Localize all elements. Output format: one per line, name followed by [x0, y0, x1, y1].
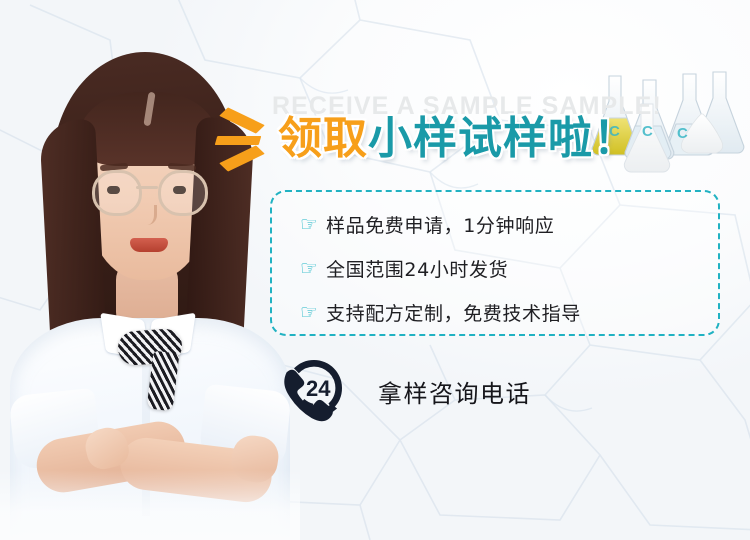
- pointing-hand-icon: ☞: [300, 258, 326, 278]
- headline-part-one: 领取: [278, 113, 368, 164]
- pointing-hand-icon: ☞: [300, 214, 326, 234]
- list-item: ☞ 样品免费申请，1分钟响应: [300, 202, 720, 246]
- mouth: [130, 238, 168, 252]
- page-title: 领取小样试样啦！: [278, 108, 638, 170]
- pointing-hand-icon: ☞: [300, 302, 326, 322]
- hotline-row: 24 拿样咨询电话: [276, 352, 531, 430]
- eyeglass-lens-left: [92, 170, 142, 216]
- feature-list: ☞ 样品免费申请，1分钟响应 ☞ 全国范围24小时发货 ☞ 支持配方定制，免费技…: [300, 202, 720, 334]
- list-item: ☞ 支持配方定制，免费技术指导: [300, 290, 720, 334]
- photo-bottom-fade: [0, 470, 300, 540]
- svg-text:C: C: [642, 123, 653, 140]
- hotline-24-label: 24: [306, 376, 331, 401]
- presenter-photo: [0, 0, 300, 540]
- list-item: ☞ 全国范围24小时发货: [300, 246, 720, 290]
- feature-text: 支持配方定制，免费技术指导: [326, 299, 581, 326]
- chevron-mark-icon: [216, 112, 274, 170]
- eyeglass-lens-right: [158, 170, 208, 216]
- sample-promo-banner: CCC RECEIVE A SAMPLE SAMPLE! 领取小样试样啦！ ☞ …: [0, 0, 750, 540]
- svg-text:C: C: [677, 125, 688, 142]
- hotline-label: 拿样咨询电话: [378, 374, 531, 409]
- phone-24h-icon: 24: [276, 352, 354, 430]
- headline-part-two: 小样试样啦！: [368, 113, 638, 164]
- eyeglass-bridge: [136, 186, 158, 189]
- feature-text: 全国范围24小时发货: [326, 255, 508, 282]
- feature-text: 样品免费申请，1分钟响应: [326, 211, 554, 238]
